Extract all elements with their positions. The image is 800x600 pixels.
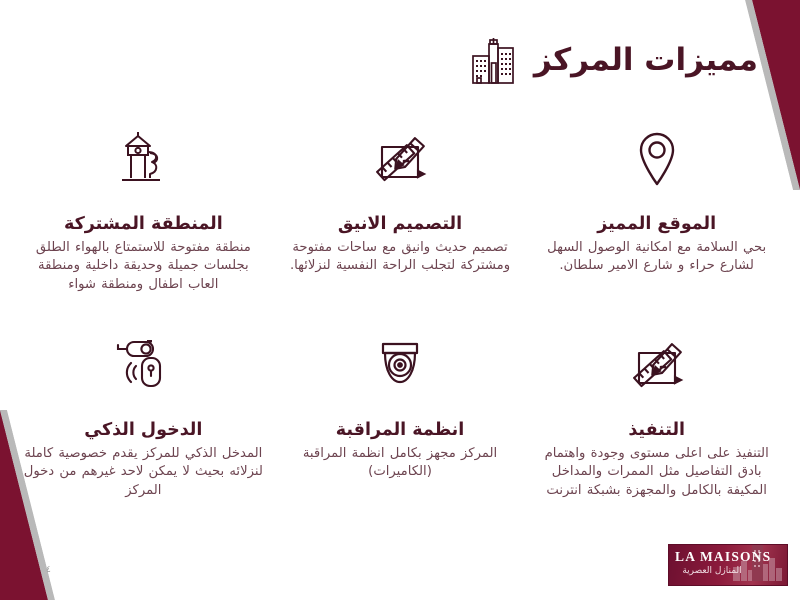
feature-card-smart-entry: الدخول الذكي المدخل الذكي للمركز يقدم خص… — [18, 334, 269, 534]
feature-card-location: الموقع المميز بحي السلامة مع امكانية الو… — [531, 128, 782, 328]
security-camera-icon — [374, 334, 426, 394]
logo-text-block: LA MAISONS المنازل العصرية — [675, 550, 771, 576]
feature-card-surveillance: انظمة المراقبة المركز مجهز بكامل انظمة ا… — [275, 334, 526, 534]
page-number: ٤ — [46, 565, 51, 575]
slide-title-row: مميزات المركز — [470, 34, 758, 86]
buildings-icon — [470, 34, 516, 86]
slide-canvas: مميزات المركز — [0, 0, 800, 600]
feature-body: التنفيذ على اعلى مستوى وجودة واهتمام باد… — [539, 445, 774, 500]
features-grid: الموقع المميز بحي السلامة مع امكانية الو… — [18, 128, 782, 534]
smart-door-lock-icon — [114, 334, 172, 394]
playground-tower-slide-icon — [114, 128, 172, 188]
feature-title: انظمة المراقبة — [336, 420, 464, 440]
feature-card-common-area: المنطقة المشتركة منطقة مفتوحة للاستمتاع … — [18, 128, 269, 328]
feature-body: تصميم حديث وانيق مع ساحات مفتوحة ومشتركة… — [283, 239, 518, 275]
feature-card-design: التصميم الانيق تصميم حديث وانيق مع ساحات… — [275, 128, 526, 328]
feature-card-execution: التنفيذ التنفيذ على اعلى مستوى وجودة واه… — [531, 334, 782, 534]
feature-body: المدخل الذكي للمركز يقدم خصوصية كاملة لن… — [22, 445, 265, 500]
feature-title: الموقع المميز — [597, 214, 716, 234]
feature-title: التصميم الانيق — [338, 214, 462, 234]
feature-title: المنطقة المشتركة — [64, 214, 223, 234]
feature-title: الدخول الذكي — [84, 420, 202, 440]
company-logo[interactable]: LA MAISONS المنازل العصرية — [668, 544, 788, 586]
design-pencil-ruler-icon — [370, 128, 430, 188]
location-pin-icon — [636, 128, 678, 188]
design-pencil-ruler-icon — [627, 334, 687, 394]
logo-name-ar: المنازل العصرية — [675, 567, 749, 576]
page-title: مميزات المركز — [534, 43, 758, 77]
logo-name-en: LA MAISONS — [675, 550, 771, 564]
feature-body: بحي السلامة مع امكانية الوصول السهل لشار… — [539, 239, 774, 275]
feature-title: التنفيذ — [628, 420, 685, 440]
feature-body: المركز مجهز بكامل انظمة المراقبة (الكامي… — [283, 445, 518, 481]
feature-body: منطقة مفتوحة للاستمتاع بالهواء الطلق بجل… — [26, 239, 261, 294]
